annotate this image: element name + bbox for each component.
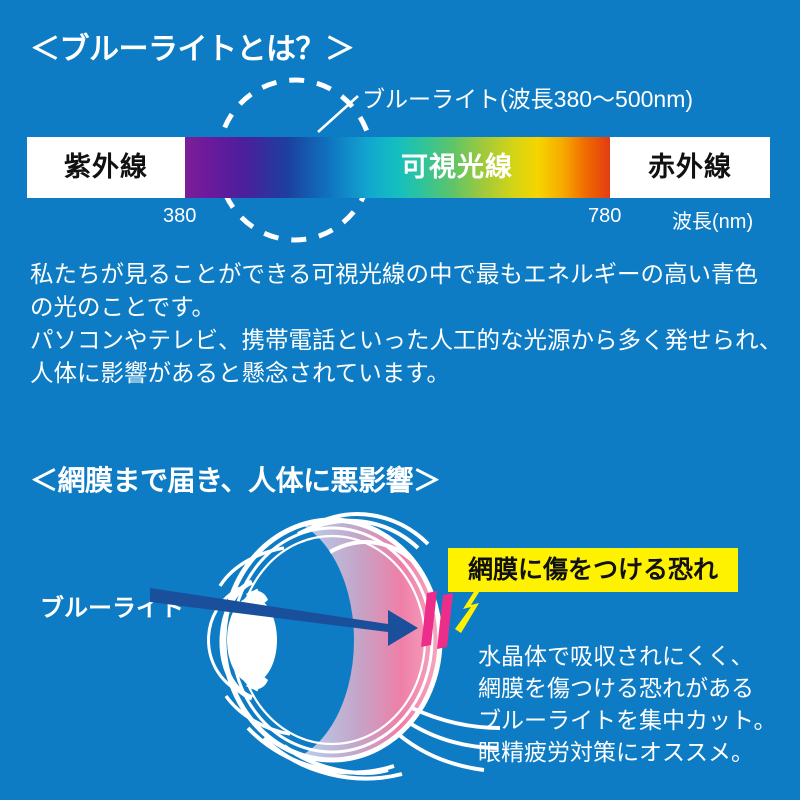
band-label-ultraviolet: 紫外線 [27,137,185,198]
arrow-shape [150,588,418,646]
lightning-bolt-icon [455,587,481,633]
description-line: パソコンやテレビ、携帯電話といった人工的な光源から多く発せられ、 [30,324,770,357]
benefit-line: 眼精疲労対策にオススメ。 [478,736,798,768]
blue-light-description: 私たちが見ることができる可視光線の中で最もエネルギーの高い青色 の光のことです。… [30,258,770,390]
spectrum-tick-780: 780 [588,205,621,228]
product-benefit-description: 水晶体で吸収されにくく、 網膜を傷つける恐れがある ブルーライトを集中カット。 … [478,640,798,768]
band-label-infrared: 赤外線 [610,137,770,198]
description-line: 私たちが見ることができる可視光線の中で最もエネルギーの高い青色 [30,258,770,291]
spectrum-axis-unit: 波長(nm) [672,205,753,234]
spectrum-bar: 紫外線 可視光線 赤外線 [27,137,770,198]
damage-stripes [421,591,453,649]
infographic-page: ＜ブルーライトとは？＞ ブルーライト(波長380〜500nm) 紫外線 可視光線… [0,0,800,800]
blue-light-leader-line [318,96,358,132]
retina-warning-callout: 網膜に傷をつける恐れ [448,548,738,592]
description-line: の光のことです。 [30,291,770,324]
benefit-line: ブルーライトを集中カット。 [478,704,798,736]
benefit-line: 網膜を傷つける恐れがある [478,672,798,704]
description-line: 人体に影響があると懸念されています。 [30,357,770,390]
blue-light-arrow [150,580,440,650]
benefit-line: 水晶体で吸収されにくく、 [478,640,798,672]
spectrum-tick-380: 380 [163,205,196,228]
band-label-visible-light: 可視光線 [367,137,547,198]
